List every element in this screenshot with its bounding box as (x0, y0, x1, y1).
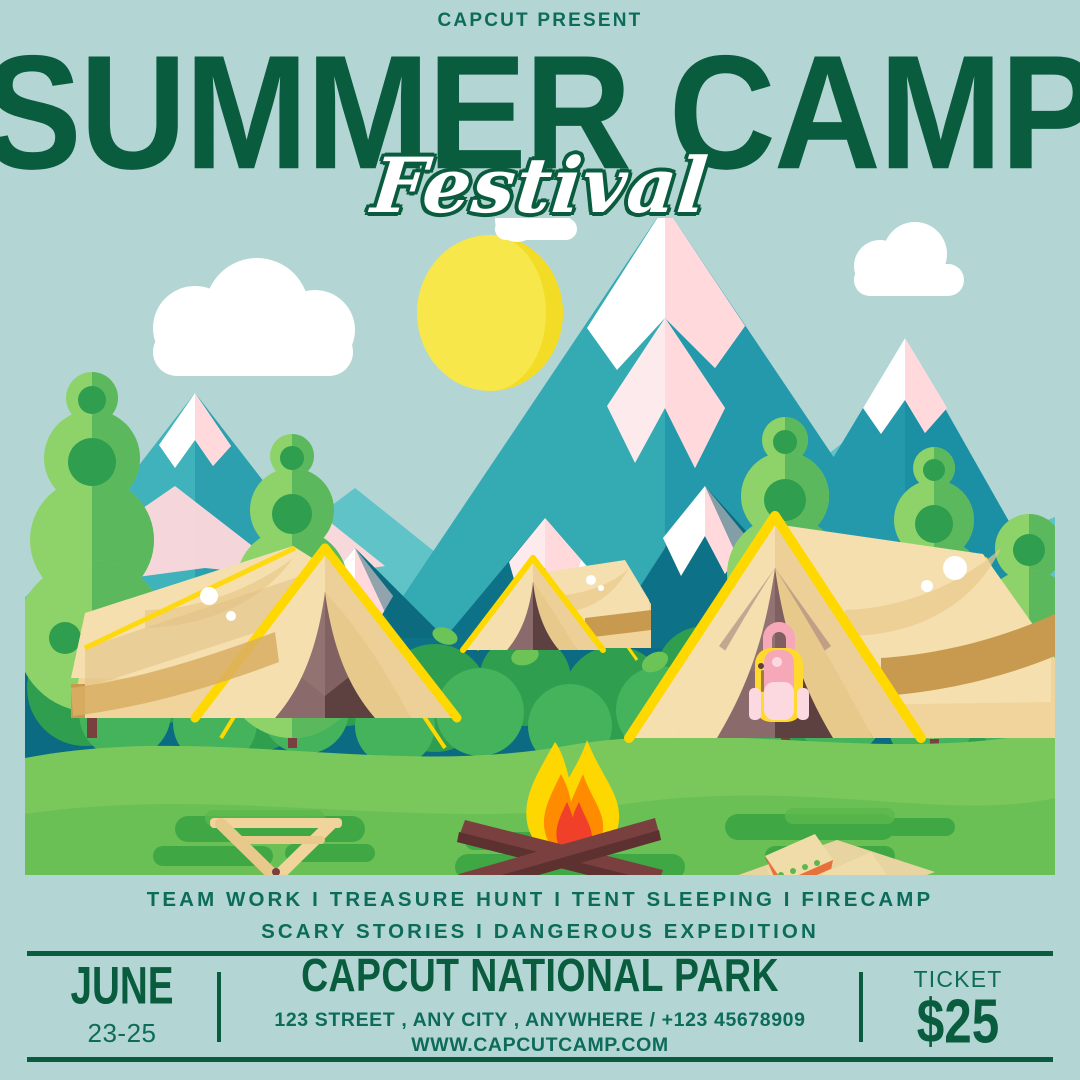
cloud-icon (495, 218, 577, 242)
ticket-info: TICKET $25 (863, 966, 1053, 1049)
sun-icon (417, 235, 563, 391)
poster-root: CAPCUT PRESENT SUMMER CAMP Festival (0, 0, 1080, 1080)
event-date: JUNE 23-25 (27, 965, 217, 1049)
venue-website[interactable]: WWW.CAPCUTCAMP.COM (235, 1033, 845, 1058)
divider-bottom (27, 1057, 1053, 1062)
ticket-price: $25 (868, 989, 1049, 1054)
title-block: SUMMER CAMP Festival (0, 36, 1080, 211)
event-month: JUNE (35, 960, 210, 1013)
activities-line-1: TEAM WORK I TREASURE HUNT I TENT SLEEPIN… (0, 884, 1080, 916)
venue-name: CAPCUT NATIONAL PARK (247, 953, 833, 1000)
camp-illustration (25, 218, 1055, 875)
venue-address: 123 STREET , ANY CITY , ANYWHERE / +123 … (235, 1008, 845, 1033)
activities-list: TEAM WORK I TREASURE HUNT I TENT SLEEPIN… (0, 884, 1080, 948)
activities-line-2: SCARY STORIES I DANGEROUS EXPEDITION (0, 916, 1080, 948)
subtitle-script: Festival (0, 148, 1080, 224)
venue-info: CAPCUT NATIONAL PARK 123 STREET , ANY CI… (221, 957, 859, 1058)
event-days: 23-25 (27, 1018, 217, 1049)
info-bar: JUNE 23-25 CAPCUT NATIONAL PARK 123 STRE… (27, 960, 1053, 1054)
